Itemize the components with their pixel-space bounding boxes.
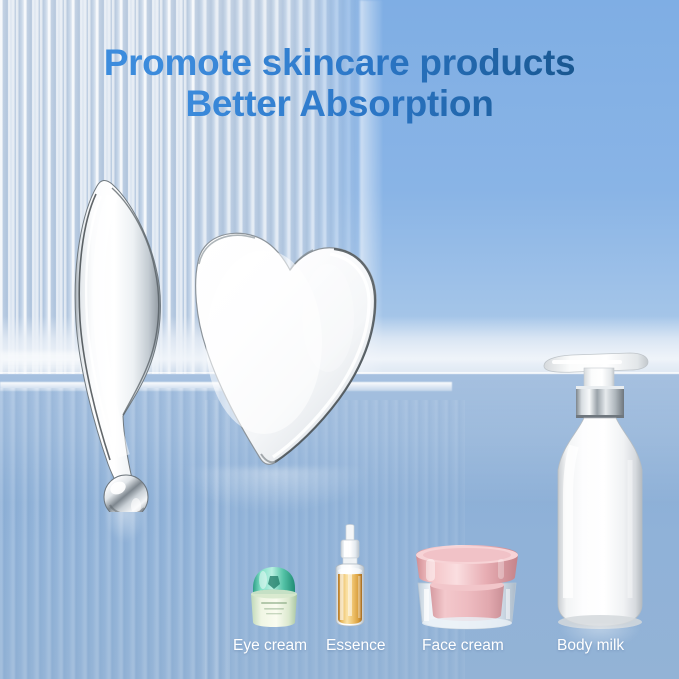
label-face-cream: Face cream bbox=[422, 637, 504, 655]
product-body-milk bbox=[538, 336, 658, 632]
product-face-cream bbox=[414, 543, 520, 631]
product-eye-cream bbox=[245, 564, 303, 628]
label-essence: Essence bbox=[326, 637, 385, 655]
stick-reflection bbox=[96, 500, 154, 610]
gua-sha-massage-stick bbox=[60, 172, 180, 512]
heart-gua-sha-board bbox=[178, 222, 403, 472]
product-marketing-image: Promote skincare products Better Absorpt… bbox=[0, 0, 679, 679]
label-eye-cream: Eye cream bbox=[233, 637, 307, 655]
product-essence bbox=[328, 524, 372, 628]
label-body-milk: Body milk bbox=[557, 637, 624, 655]
